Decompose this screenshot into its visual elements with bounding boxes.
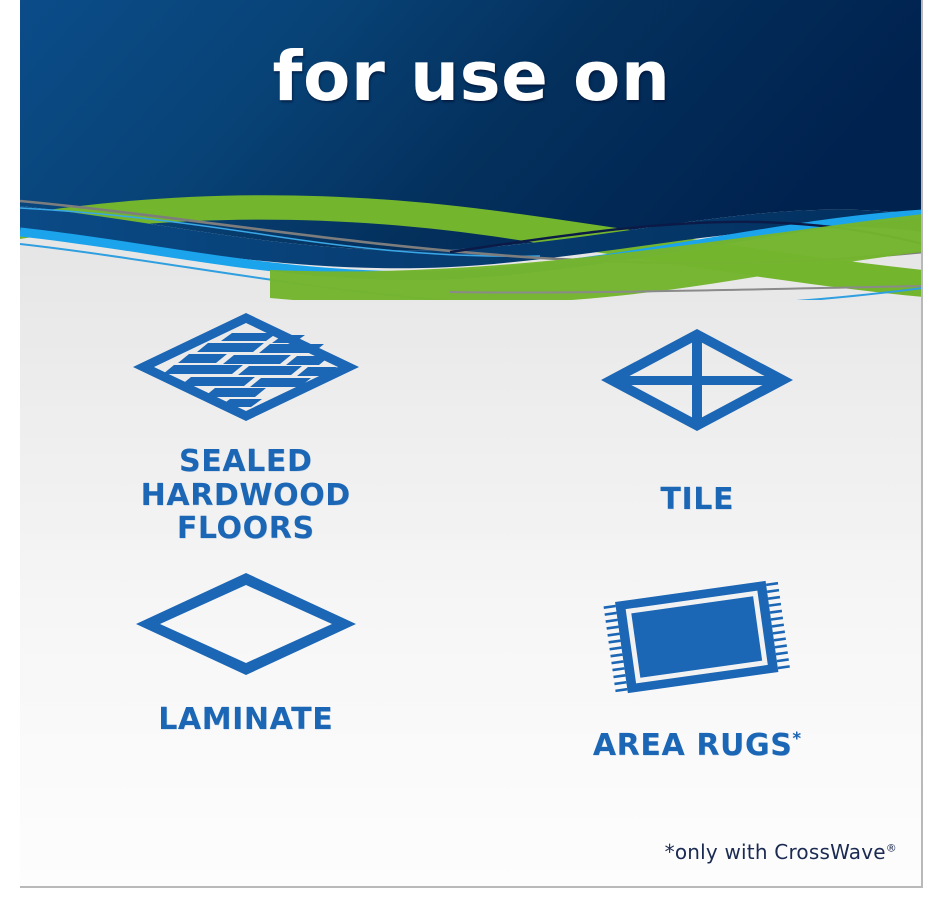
surface-item-sealed-hardwood-floors[interactable]: SEALED HARDWOOD FLOORS	[20, 305, 472, 555]
tile-quad-diamond-icon	[599, 327, 795, 433]
surface-label-sealed-hardwood-floors: SEALED HARDWOOD FLOORS	[141, 445, 351, 546]
page-title: for use on	[20, 43, 923, 112]
footnote-registered-mark: ®	[886, 841, 897, 854]
surface-label-area-rugs-text: AREA RUGS	[593, 728, 793, 763]
for-use-on-panel: for use on	[0, 0, 950, 903]
laminate-diamond-outline-icon	[134, 571, 358, 677]
content-card: for use on	[20, 0, 923, 888]
surface-item-laminate[interactable]: LAMINATE	[20, 569, 472, 779]
surface-label-area-rugs: AREA RUGS*	[593, 729, 802, 763]
surface-item-tile[interactable]: TILE	[472, 305, 924, 555]
footnote: *only with CrossWave®	[665, 840, 897, 864]
hardwood-planks-diamond-icon	[131, 311, 361, 423]
surface-label-area-rugs-asterisk: *	[792, 729, 801, 748]
header-band: for use on	[20, 0, 923, 300]
surface-label-tile: TILE	[660, 483, 734, 517]
surface-item-area-rugs[interactable]: AREA RUGS*	[472, 569, 924, 779]
area-rug-icon	[577, 569, 817, 709]
footnote-text: *only with CrossWave	[665, 840, 886, 864]
surface-label-laminate: LAMINATE	[158, 703, 333, 737]
surface-grid: SEALED HARDWOOD FLOORS TILE	[20, 305, 923, 779]
